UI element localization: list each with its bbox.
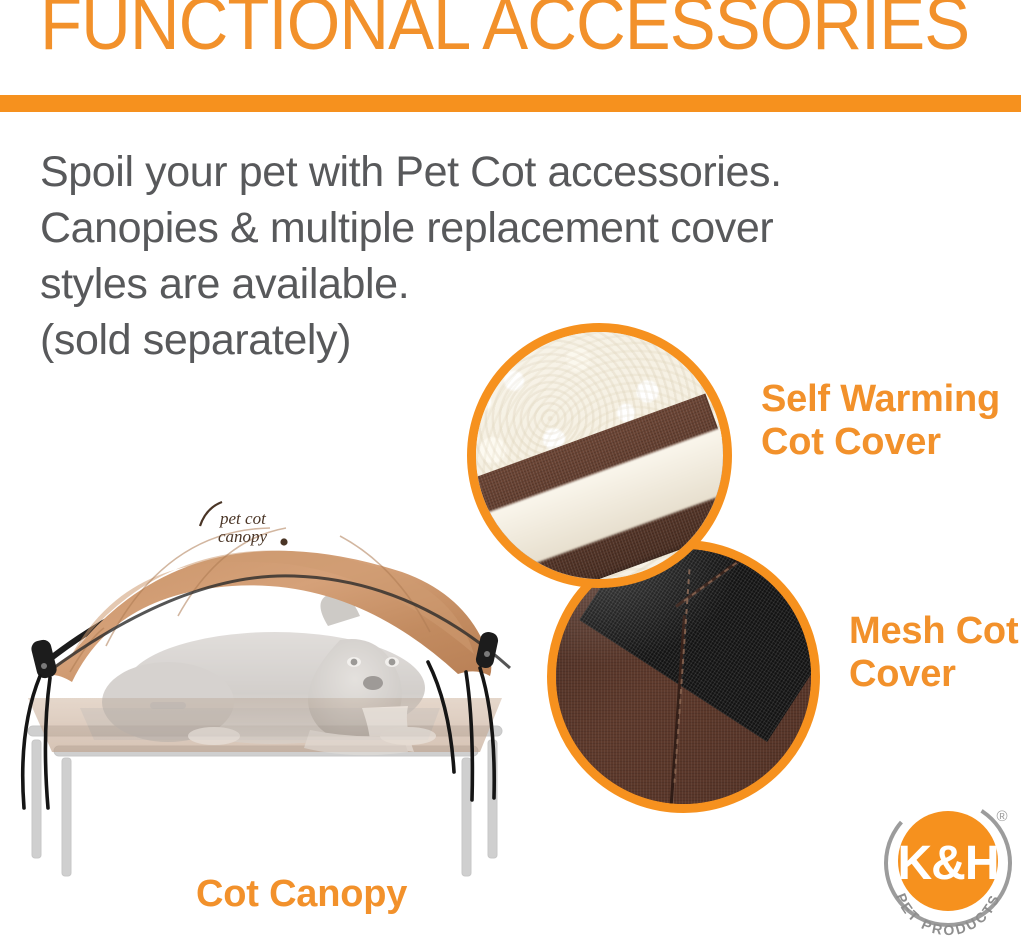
self-warming-photo bbox=[476, 332, 723, 579]
title-underline-rule bbox=[0, 95, 1021, 112]
page-title: FUNCTIONAL ACCESSORIES bbox=[40, 0, 961, 61]
self-warming-label-line1: Self Warming bbox=[761, 378, 1000, 421]
cot-canopy-caption: Cot Canopy bbox=[196, 873, 407, 916]
canopy-embroidery-line1: pet cot bbox=[219, 509, 267, 528]
logo-wordmark: K&H bbox=[898, 837, 999, 890]
intro-line-2: Canopies & multiple replacement cover bbox=[40, 201, 600, 257]
cot-canopy-scene: pet cot canopy bbox=[10, 440, 530, 870]
mesh-cover-label-line1: Mesh Cot bbox=[849, 610, 1018, 653]
infographic-canvas: FUNCTIONAL ACCESSORIES Spoil your pet wi… bbox=[0, 0, 1024, 947]
cot-canopy-illustration: pet cot canopy bbox=[10, 440, 530, 870]
self-warming-cover-inset bbox=[467, 323, 732, 588]
self-warming-label-line2: Cot Cover bbox=[761, 421, 1000, 464]
registered-trademark-icon: ® bbox=[996, 808, 1007, 825]
kh-pet-products-logo: K&H ® PET PRODUCTS bbox=[878, 795, 1018, 937]
intro-line-1: Spoil your pet with Pet Cot accessories. bbox=[40, 145, 600, 201]
mesh-cover-label: Mesh Cot Cover bbox=[849, 610, 1018, 695]
brand-logo: K&H ® PET PRODUCTS bbox=[878, 795, 1018, 937]
intro-line-3: styles are available. bbox=[40, 257, 600, 313]
self-warming-label: Self Warming Cot Cover bbox=[761, 378, 1000, 463]
canopy-embroidery: pet cot canopy bbox=[200, 502, 288, 546]
mesh-cover-label-line2: Cover bbox=[849, 653, 1018, 696]
canopy-embroidery-line2: canopy bbox=[218, 527, 268, 546]
